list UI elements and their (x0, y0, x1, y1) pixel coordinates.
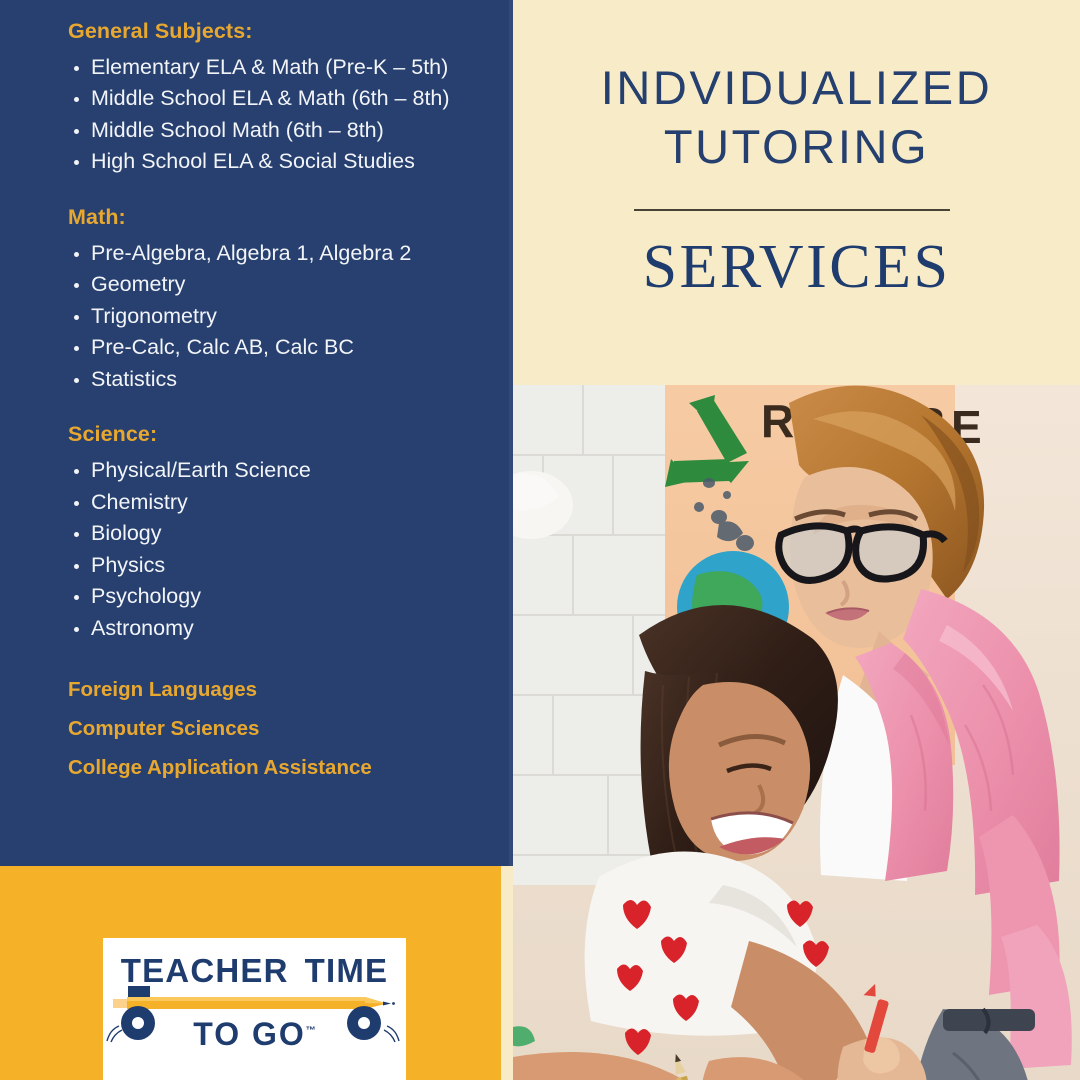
title-line-2: TUTORING (513, 117, 1080, 176)
list-item: Pre-Algebra, Algebra 1, Algebra 2 (68, 238, 498, 270)
list-item: Biology (68, 518, 498, 550)
list-item: Psychology (68, 581, 498, 613)
list-item: Physics (68, 550, 498, 582)
subject-list-science: Physical/Earth Science Chemistry Biology… (68, 455, 498, 644)
section-heading-math: Math: (68, 204, 498, 232)
brand-logo: TEACHERTIME TO GO™ (103, 938, 406, 1080)
logo-wordmark-line2: TO GO™ (103, 1018, 406, 1050)
list-item: Middle School ELA & Math (6th – 8th) (68, 83, 498, 115)
list-item: Physical/Earth Science (68, 455, 498, 487)
poster-root: General Subjects: Elementary ELA & Math … (0, 0, 1080, 1080)
list-item: Pre-Calc, Calc AB, Calc BC (68, 332, 498, 364)
list-item: Middle School Math (6th – 8th) (68, 115, 498, 147)
list-item: Trigonometry (68, 301, 498, 333)
extra-offering-foreign-languages: Foreign Languages (68, 670, 498, 709)
extra-offering-computer-sciences: Computer Sciences (68, 709, 498, 748)
logo-word-teacher: TEACHER (121, 952, 289, 989)
subjects-panel: General Subjects: Elementary ELA & Math … (0, 0, 513, 866)
logo-text-to-go: TO GO (193, 1016, 306, 1052)
list-item: Chemistry (68, 487, 498, 519)
logo-wordmark-line1: TEACHERTIME (103, 954, 406, 987)
list-item: Elementary ELA & Math (Pre-K – 5th) (68, 52, 498, 84)
title-divider (634, 209, 950, 211)
list-item: Statistics (68, 364, 498, 396)
extra-offering-college-application-assistance: College Application Assistance (68, 748, 498, 787)
title-line-1: INDVIDUALIZED (513, 58, 1080, 117)
section-heading-general-subjects: General Subjects: (68, 18, 498, 46)
subject-list-general-subjects: Elementary ELA & Math (Pre-K – 5th) Midd… (68, 52, 498, 178)
photo-illustration: R E D B E (513, 385, 1080, 1080)
list-item: Astronomy (68, 613, 498, 645)
svg-text:R: R (761, 395, 794, 447)
trademark-symbol: ™ (306, 1025, 316, 1036)
page-title: INDVIDUALIZED TUTORING (513, 58, 1080, 176)
logo-word-time: TIME (305, 952, 389, 989)
list-item: Geometry (68, 269, 498, 301)
title-block: INDVIDUALIZED TUTORING SERVICES (513, 0, 1080, 385)
section-heading-science: Science: (68, 421, 498, 449)
extra-offerings-group: Foreign Languages Computer Sciences Coll… (68, 670, 498, 787)
list-item: High School ELA & Social Studies (68, 146, 498, 178)
page-subtitle: SERVICES (513, 236, 1080, 298)
subjects-content: General Subjects: Elementary ELA & Math … (68, 18, 498, 787)
tutoring-photo: R E D B E (513, 385, 1080, 1080)
footer-cream-gap (501, 866, 513, 1080)
subject-list-math: Pre-Algebra, Algebra 1, Algebra 2 Geomet… (68, 238, 498, 396)
